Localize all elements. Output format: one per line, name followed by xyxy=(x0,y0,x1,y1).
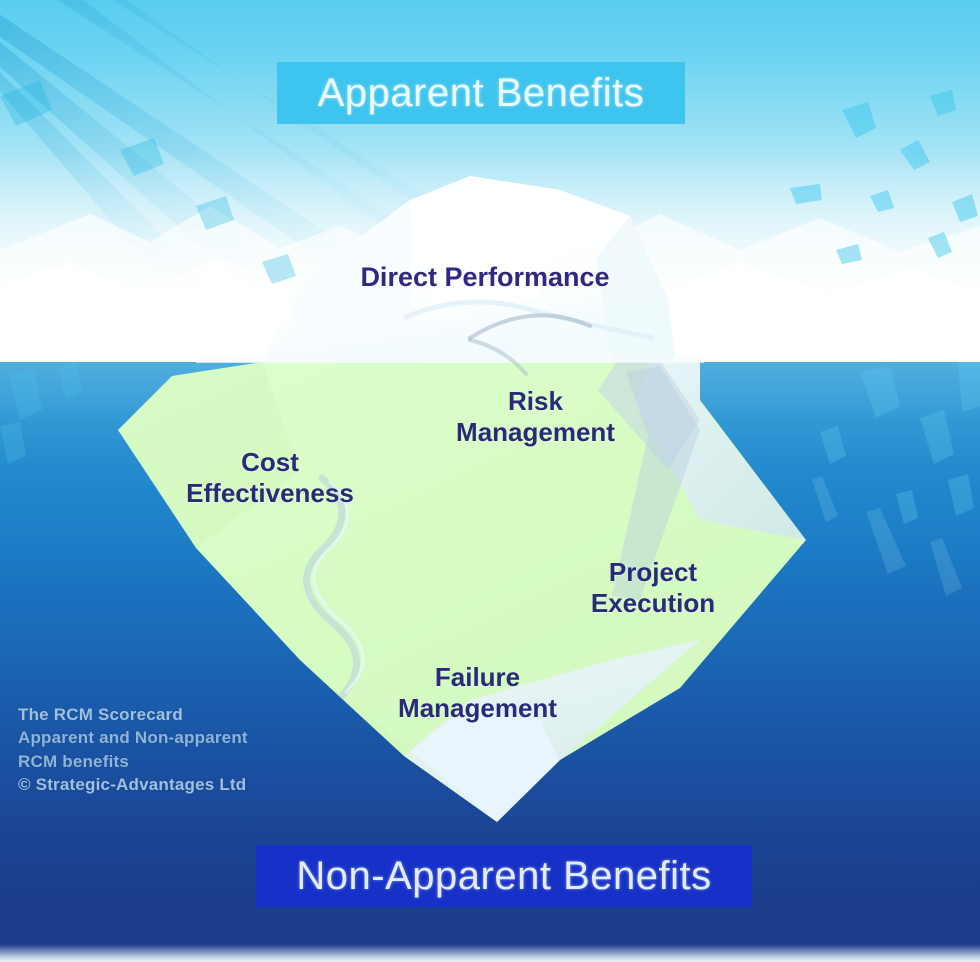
label-direct-performance: Direct Performance xyxy=(335,262,635,294)
banner-non-apparent-benefits: Non-Apparent Benefits xyxy=(256,845,752,907)
caption-line-title: The RCM Scorecard xyxy=(18,703,348,726)
iceberg-diagram: Apparent Benefits Non-Apparent Benefits … xyxy=(0,0,980,962)
label-project-execution: Project Execution xyxy=(548,557,758,618)
caption-block: The RCM Scorecard Apparent and Non-appar… xyxy=(18,703,348,796)
banner-apparent-benefits: Apparent Benefits xyxy=(277,62,685,124)
label-failure-management: Failure Management xyxy=(370,662,585,723)
caption-line-copyright: © Strategic-Advantages Ltd xyxy=(18,773,348,796)
label-cost-effectiveness: Cost Effectiveness xyxy=(150,447,390,508)
caption-line-subtitle-2: RCM benefits xyxy=(18,750,348,773)
label-risk-management: Risk Management xyxy=(418,386,653,447)
caption-line-subtitle-1: Apparent and Non-apparent xyxy=(18,726,348,749)
iceberg-shape xyxy=(0,0,980,962)
